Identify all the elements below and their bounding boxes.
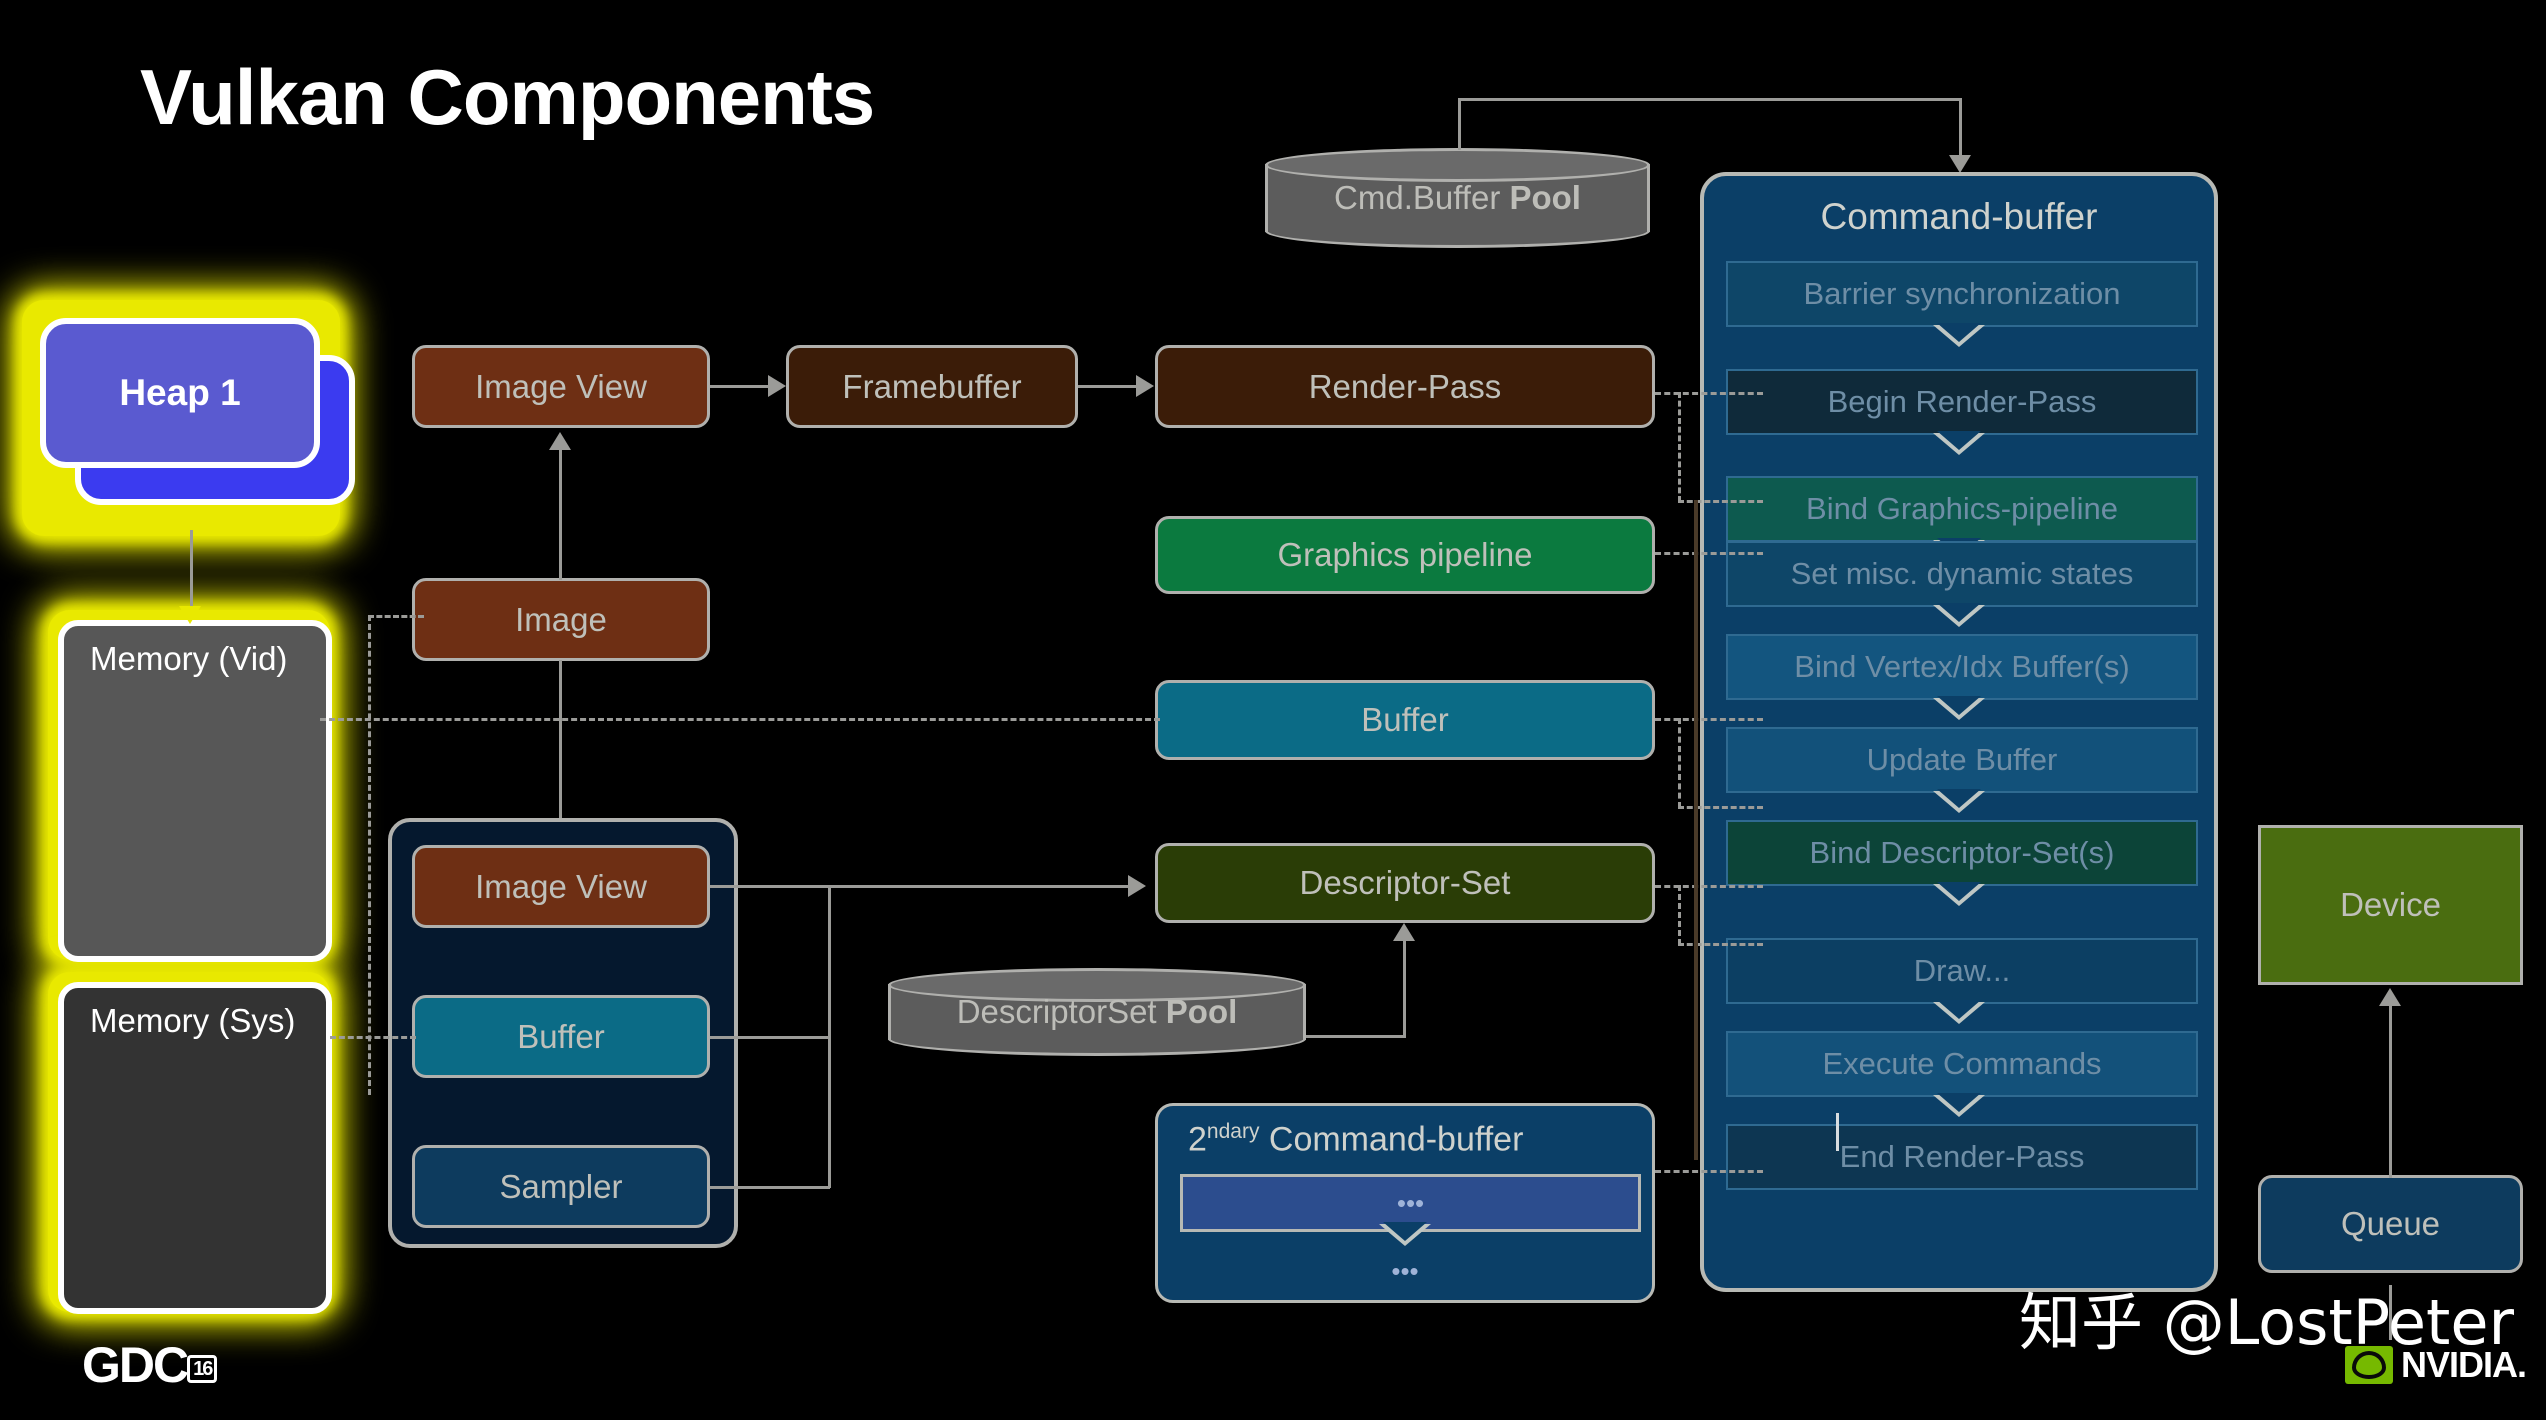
memory-bus-vertical <box>368 615 371 1095</box>
cmd-buffer-pool-cylinder[interactable]: Cmd.Buffer Pool <box>1265 148 1650 248</box>
image-view-top-node[interactable]: Image View <box>412 345 710 428</box>
descset-dash-vert <box>1678 885 1681 945</box>
memory-sys-box[interactable]: Memory (Sys) <box>58 982 332 1314</box>
nvidia-wordmark: NVIDIA. <box>2401 1344 2526 1386</box>
group-sampler-label: Sampler <box>500 1168 623 1206</box>
graphics-pipeline-node[interactable]: Graphics pipeline <box>1155 516 1655 594</box>
cmdpool-across-line <box>1458 98 1962 101</box>
heap-to-memory-line <box>190 530 193 612</box>
buffer-center-label: Buffer <box>1361 701 1448 739</box>
buffer-center-node[interactable]: Buffer <box>1155 680 1655 760</box>
secondary-command-buffer-title: 2ndary Command-buffer <box>1188 1120 1523 1159</box>
group-to-descset-arrow <box>1128 875 1146 897</box>
image-to-imageview-line <box>559 440 562 580</box>
queue-node[interactable]: Queue <box>2258 1175 2523 1273</box>
cmd-flow-arrow <box>1933 698 1985 720</box>
cmd-item-begin-render-pass[interactable]: Begin Render-Pass <box>1726 369 2198 435</box>
text-caret <box>1836 1113 1839 1151</box>
dspool-out-line <box>1306 1035 1406 1038</box>
render-pass-label: Render-Pass <box>1309 368 1502 406</box>
memory-bus-to-group-buffer <box>330 1036 416 1039</box>
buffer-dash-out <box>1655 718 1763 721</box>
memory-bus-to-image <box>368 615 424 618</box>
device-node[interactable]: Device <box>2258 825 2523 985</box>
descriptor-set-pool-cylinder[interactable]: DescriptorSet Pool <box>888 968 1306 1056</box>
cmdpool-arrow <box>1949 155 1971 173</box>
group-buffer-node[interactable]: Buffer <box>412 995 710 1078</box>
cmd-buffer-pool-label: Cmd.Buffer Pool <box>1265 179 1650 217</box>
renderpass-dash-vert <box>1678 392 1681 502</box>
cmd-item-barrier-synchronization[interactable]: Barrier synchronization <box>1726 261 2198 327</box>
cmd-flow-arrow <box>1933 791 1985 813</box>
nvidia-eye-icon <box>2345 1346 2393 1384</box>
cmd-item-draw[interactable]: Draw... <box>1726 938 2198 1004</box>
cmd-item-update-buffer[interactable]: Update Buffer <box>1726 727 2198 793</box>
cmd-flow-arrow <box>1933 605 1985 627</box>
group-image-view-node[interactable]: Image View <box>412 845 710 928</box>
group-sampler-node[interactable]: Sampler <box>412 1145 710 1228</box>
framebuffer-label: Framebuffer <box>842 368 1021 406</box>
queue-label: Queue <box>2341 1205 2440 1243</box>
renderpass-to-beginpass-dash <box>1655 392 1763 395</box>
cmd-flow-arrow <box>1933 1095 1985 1117</box>
cmdpool-down-line <box>1959 98 1962 160</box>
command-buffer-title: Command-buffer <box>1704 196 2214 238</box>
cmd-item-end-render-pass[interactable]: End Render-Pass <box>1726 1124 2198 1190</box>
pipeline-to-bindpipeline-dash <box>1655 552 1763 555</box>
cylinder-top <box>1265 148 1650 182</box>
group-buf-out-line <box>710 1036 830 1039</box>
group-iv-out-line <box>710 885 830 888</box>
imageview-framebuffer-arrow <box>768 375 786 397</box>
image-view-top-label: Image View <box>475 368 647 406</box>
renderpass-dash-in <box>1678 500 1763 503</box>
graphics-pipeline-label: Graphics pipeline <box>1278 536 1533 574</box>
cmd-flow-arrow <box>1933 325 1985 347</box>
memory-vid-label: Memory (Vid) <box>90 640 287 678</box>
dspool-up-line <box>1403 935 1406 1035</box>
queue-to-device-line <box>2389 1000 2392 1178</box>
slide-canvas: Vulkan Components Heap 2 Heap 1 Memory (… <box>0 0 2546 1420</box>
buffer-dash-vert <box>1678 718 1681 808</box>
memory-vid-box[interactable]: Memory (Vid) <box>58 620 332 962</box>
heap-to-memory-arrow <box>179 606 201 624</box>
secondary-command-buffer-panel[interactable]: 2ndary Command-buffer ••• ••• <box>1155 1103 1655 1303</box>
image-to-imageview-arrow <box>549 432 571 450</box>
group-image-view-label: Image View <box>475 868 647 906</box>
page-title: Vulkan Components <box>140 52 874 143</box>
image-node[interactable]: Image <box>412 578 710 661</box>
dspool-arrow <box>1393 923 1415 941</box>
sec-cmdbuf-dash <box>1655 1170 1763 1173</box>
framebuffer-renderpass-arrow <box>1136 375 1154 397</box>
cmd-item-bind-vertex-idx-buffers[interactable]: Bind Vertex/Idx Buffer(s) <box>1726 634 2198 700</box>
memory-bus-to-buffer <box>320 718 1160 721</box>
secondary-trailing-dots: ••• <box>1158 1256 1652 1287</box>
secondary-flow-arrow <box>1379 1224 1431 1246</box>
group-bus-line <box>828 885 831 1188</box>
image-label: Image <box>515 601 607 639</box>
group-buffer-label: Buffer <box>517 1018 604 1056</box>
heap-1-label: Heap 1 <box>119 372 240 414</box>
descriptor-set-pool-label: DescriptorSet Pool <box>888 993 1306 1031</box>
cmd-item-bind-graphics-pipeline[interactable]: Bind Graphics-pipeline <box>1726 476 2198 542</box>
descset-dash-in <box>1678 943 1763 946</box>
cmd-flow-arrow <box>1933 433 1985 455</box>
cmd-panel-accent <box>1694 500 1698 1160</box>
gdc-year-badge: 16 <box>187 1355 217 1383</box>
nvidia-logo: NVIDIA. <box>2345 1344 2526 1386</box>
gdc-logo: GDC16 <box>82 1336 217 1394</box>
cmd-item-set-misc-dynamic-states[interactable]: Set misc. dynamic states <box>1726 541 2198 607</box>
command-buffer-panel[interactable]: Command-buffer Barrier synchronization B… <box>1700 172 2218 1292</box>
cmdpool-up-line <box>1458 98 1461 150</box>
group-smp-out-line <box>710 1186 830 1189</box>
group-to-descset-line <box>828 885 1128 888</box>
cmd-flow-arrow <box>1933 884 1985 906</box>
descset-dash-out <box>1655 885 1763 888</box>
memory-sys-label: Memory (Sys) <box>90 1002 295 1040</box>
cmd-item-execute-commands[interactable]: Execute Commands <box>1726 1031 2198 1097</box>
render-pass-node[interactable]: Render-Pass <box>1155 345 1655 428</box>
cmd-flow-arrow <box>1933 1002 1985 1024</box>
cmd-item-bind-descriptor-sets[interactable]: Bind Descriptor-Set(s) <box>1726 820 2198 886</box>
descriptor-set-label: Descriptor-Set <box>1300 864 1511 902</box>
heap-1-box[interactable]: Heap 1 <box>40 318 320 468</box>
descriptor-set-node[interactable]: Descriptor-Set <box>1155 843 1655 923</box>
buffer-dash-in <box>1678 806 1763 809</box>
framebuffer-node[interactable]: Framebuffer <box>786 345 1078 428</box>
queue-to-device-arrow <box>2379 988 2401 1006</box>
device-label: Device <box>2340 886 2441 924</box>
